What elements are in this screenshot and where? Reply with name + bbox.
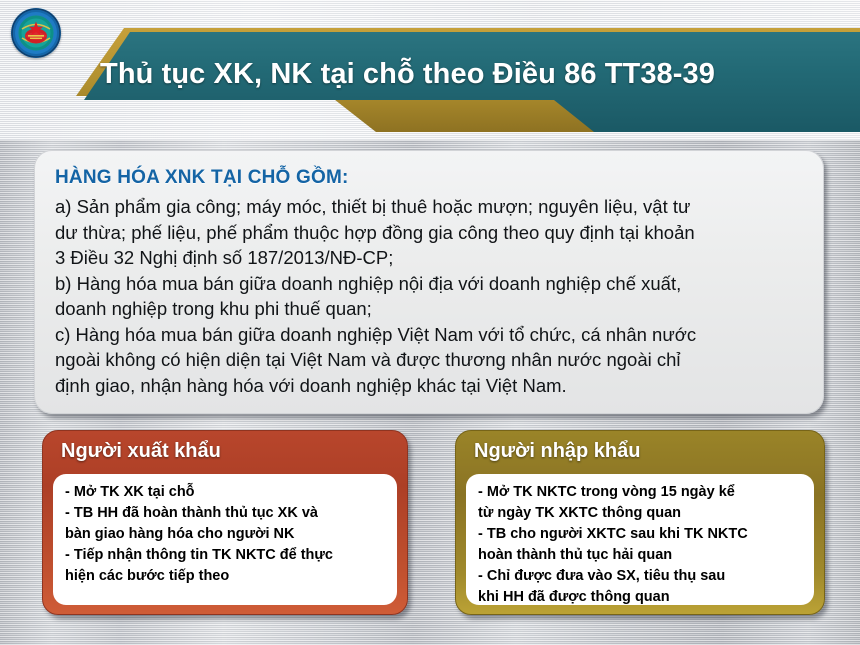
panel-text-line: c) Hàng hóa mua bán giữa doanh nghiệp Vi… bbox=[55, 322, 803, 348]
panel-heading: HÀNG HÓA XNK TẠI CHỖ GỒM: bbox=[55, 167, 803, 189]
panel-text-line: định giao, nhận hàng hóa với doanh nghiệ… bbox=[55, 373, 803, 399]
importer-step-line: từ ngày TK XKTC thông quan bbox=[478, 503, 808, 524]
goods-definition-panel: HÀNG HÓA XNK TẠI CHỖ GỒM: a) Sản phẩm gi… bbox=[34, 150, 824, 414]
header-region: Thủ tục XK, NK tại chỗ theo Điều 86 TT38… bbox=[0, 0, 860, 140]
panel-text-line: ngoài không có hiện diện tại Việt Nam và… bbox=[55, 347, 803, 373]
exporter-panel-title: Người xuất khẩu bbox=[43, 431, 407, 463]
exporter-panel-body: - Mở TK XK tại chỗ - TB HH đã hoàn thành… bbox=[53, 474, 397, 605]
vietnam-customs-emblem-icon bbox=[11, 8, 61, 58]
exporter-step-line: bàn giao hàng hóa cho người NK bbox=[65, 524, 391, 545]
panel-text-line: a) Sản phẩm gia công; máy móc, thiết bị … bbox=[55, 194, 803, 220]
page-title: Thủ tục XK, NK tại chỗ theo Điều 86 TT38… bbox=[100, 50, 840, 98]
exporter-step-line: - TB HH đã hoàn thành thủ tục XK và bbox=[65, 503, 391, 524]
exporter-step-line: - Tiếp nhận thông tin TK NKTC để thực bbox=[65, 545, 391, 566]
panel-text-line: b) Hàng hóa mua bán giữa doanh nghiệp nộ… bbox=[55, 271, 803, 297]
slide-canvas: Thủ tục XK, NK tại chỗ theo Điều 86 TT38… bbox=[0, 0, 860, 645]
panel-text-line: 3 Điều 32 Nghị định số 187/2013/NĐ-CP; bbox=[55, 245, 803, 271]
importer-panel-body: - Mở TK NKTC trong vòng 15 ngày kể từ ng… bbox=[466, 474, 814, 605]
importer-step-line: - TB cho người XKTC sau khi TK NKTC bbox=[478, 524, 808, 545]
importer-step-line: - Chỉ được đưa vào SX, tiêu thụ sau bbox=[478, 566, 808, 587]
panel-text-line: dư thừa; phế liệu, phế phẩm thuộc hợp đồ… bbox=[55, 220, 803, 246]
importer-step-line: - Mở TK NKTC trong vòng 15 ngày kể bbox=[478, 482, 808, 503]
importer-panel: Người nhập khẩu - Mở TK NKTC trong vòng … bbox=[455, 430, 825, 615]
importer-step-line: khi HH đã được thông quan bbox=[478, 587, 808, 608]
exporter-step-line: - Mở TK XK tại chỗ bbox=[65, 482, 391, 503]
importer-panel-title: Người nhập khẩu bbox=[456, 431, 824, 463]
importer-step-line: hoàn thành thủ tục hải quan bbox=[478, 545, 808, 566]
exporter-panel: Người xuất khẩu - Mở TK XK tại chỗ - TB … bbox=[42, 430, 408, 615]
exporter-step-line: hiện các bước tiếp theo bbox=[65, 566, 391, 587]
panel-text-line: doanh nghiệp trong khu phi thuế quan; bbox=[55, 296, 803, 322]
